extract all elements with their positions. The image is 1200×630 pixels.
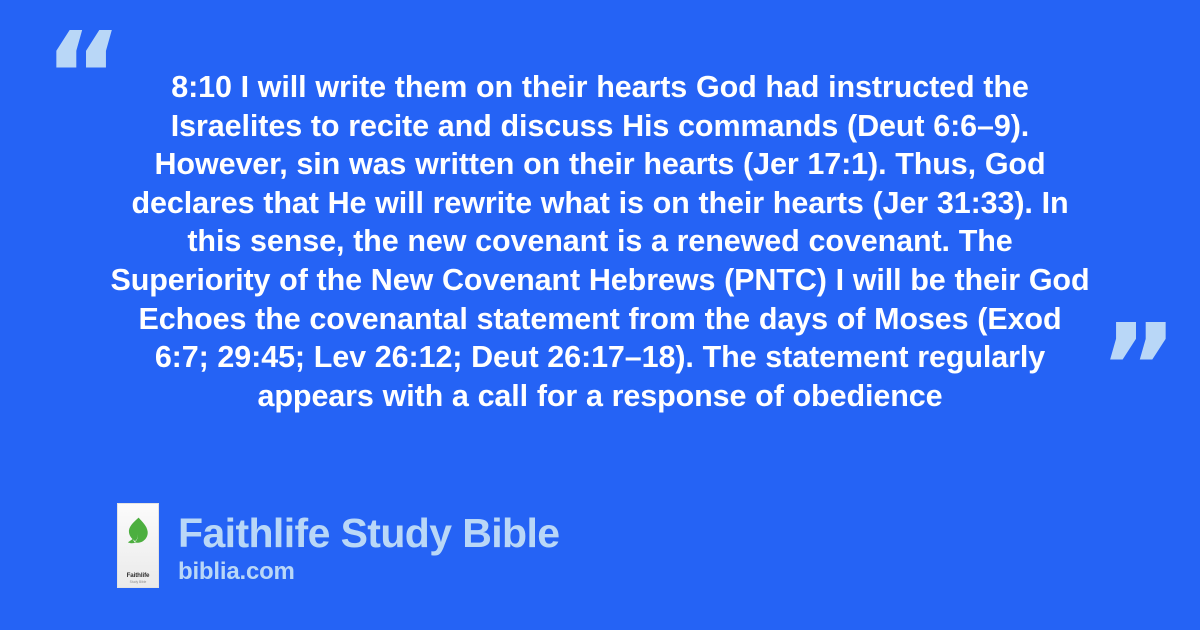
book-cover-caption: Faithlife Study Bible [118,573,158,584]
book-cover-caption-sub: Study Bible [118,581,158,584]
quote-share-card: “ 8:10 I will write them on their hearts… [0,0,1200,630]
site-url[interactable]: biblia.com [178,558,560,586]
book-cover-caption-main: Faithlife [118,573,158,580]
brand-text-group: Faithlife Study Bible biblia.com [178,503,560,588]
brand-footer: Faithlife Study Bible Faithlife Study Bi… [117,503,560,588]
quote-text: 8:10 I will write them on their hearts G… [108,68,1092,415]
closing-quote-mark-icon: ” [1099,310,1178,430]
quote-block: “ 8:10 I will write them on their hearts… [0,0,1200,460]
resource-title: Faithlife Study Bible [178,510,560,556]
faithlife-leaf-logo-icon [127,517,149,545]
book-cover-thumbnail: Faithlife Study Bible [117,503,159,588]
